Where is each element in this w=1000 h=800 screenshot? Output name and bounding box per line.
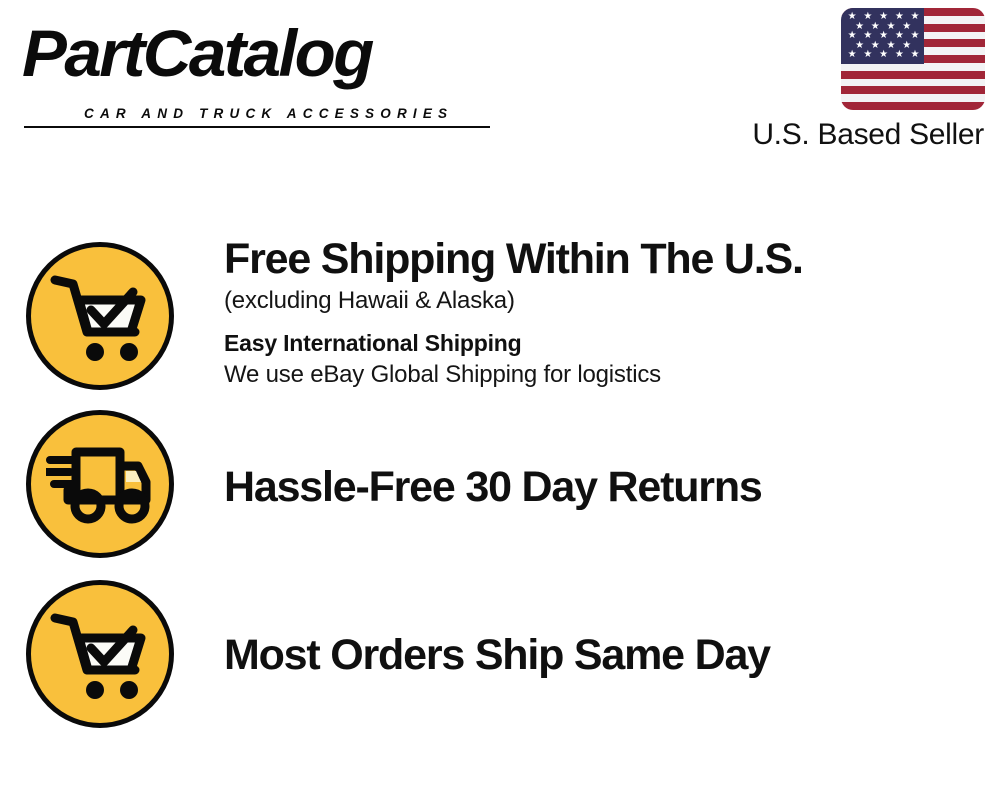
feature-text: Free Shipping Within The U.S. (excluding…	[200, 232, 1000, 391]
flag-stripe	[841, 86, 985, 94]
feature-note: (excluding Hawaii & Alaska)	[224, 284, 1000, 318]
us-based-seller-label: U.S. Based Seller	[685, 118, 984, 152]
feature-icon-wrap	[0, 232, 200, 390]
feature-list: Free Shipping Within The U.S. (excluding…	[0, 232, 1000, 744]
feature-title: Hassle-Free 30 Day Returns	[224, 462, 1000, 512]
feature-text: Most Orders Ship Same Day	[200, 574, 1000, 680]
flag-stripe	[841, 79, 985, 87]
brand-logo[interactable]: PartCatalog CAR AND TRUCK ACCESSORIES	[22, 18, 492, 113]
brand-tagline: CAR AND TRUCK ACCESSORIES	[84, 106, 453, 121]
us-flag-icon: ★ ★ ★ ★ ★ ★ ★ ★ ★ ★ ★ ★ ★ ★ ★ ★ ★ ★ ★ ★	[841, 8, 985, 110]
us-based-seller-badge: ★ ★ ★ ★ ★ ★ ★ ★ ★ ★ ★ ★ ★ ★ ★ ★ ★ ★ ★ ★	[685, 8, 985, 152]
shopping-cart-check-icon	[26, 580, 174, 728]
feature-subtitle: We use eBay Global Shipping for logistic…	[224, 358, 1000, 391]
flag-stripe	[841, 102, 985, 110]
feature-row: Hassle-Free 30 Day Returns	[0, 404, 1000, 574]
feature-title: Free Shipping Within The U.S.	[224, 234, 1000, 284]
shopping-cart-check-icon	[26, 242, 174, 390]
feature-icon-wrap	[0, 574, 200, 728]
feature-text: Hassle-Free 30 Day Returns	[200, 404, 1000, 512]
feature-subtitle-bold: Easy International Shipping	[224, 328, 1000, 358]
feature-title: Most Orders Ship Same Day	[224, 630, 1000, 680]
flag-canton: ★ ★ ★ ★ ★ ★ ★ ★ ★ ★ ★ ★ ★ ★ ★ ★ ★ ★ ★ ★	[841, 8, 924, 64]
promo-banner: PartCatalog CAR AND TRUCK ACCESSORIES	[0, 0, 1000, 800]
feature-icon-wrap	[0, 404, 200, 558]
feature-row: Free Shipping Within The U.S. (excluding…	[0, 232, 1000, 404]
feature-row: Most Orders Ship Same Day	[0, 574, 1000, 744]
flag-stripe	[841, 63, 985, 71]
logo-underline-rule	[24, 126, 490, 128]
flag-stripe	[841, 71, 985, 79]
delivery-truck-icon	[26, 410, 174, 558]
flag-stripe	[841, 94, 985, 102]
brand-wordmark: PartCatalog	[22, 18, 501, 88]
